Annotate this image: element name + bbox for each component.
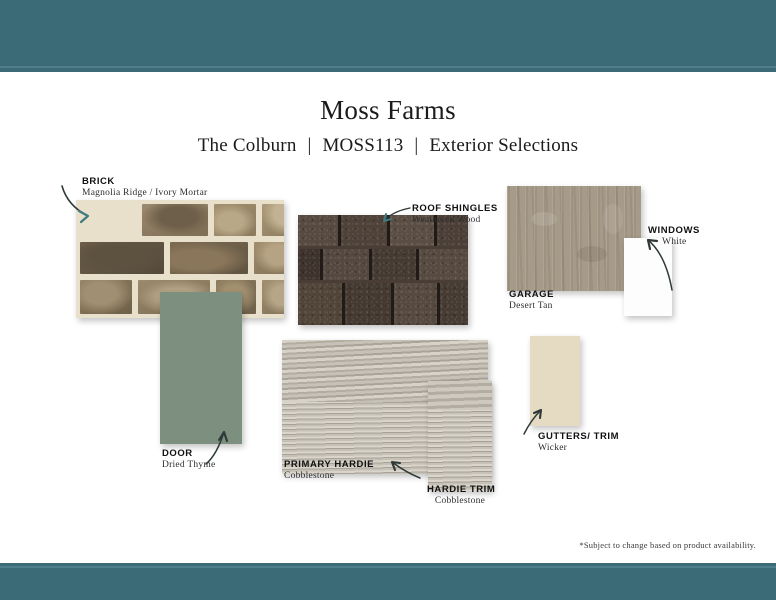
swatch-hardie-trim[interactable] bbox=[428, 381, 492, 491]
label-gutters-trim-value: Wicker bbox=[538, 443, 619, 454]
label-brick-name: BRICK bbox=[82, 176, 207, 187]
subtitle-separator-1: | bbox=[301, 135, 317, 156]
subtitle-plan: The Colburn bbox=[198, 135, 297, 156]
hardie-trim-fine-grain bbox=[428, 410, 492, 491]
exterior-selections-board: Moss Farms The Colburn | MOSS113 | Exter… bbox=[0, 0, 776, 600]
top-banner-rule bbox=[0, 66, 776, 68]
page-title: Moss Farms bbox=[0, 96, 776, 126]
swatch-garage[interactable] bbox=[507, 186, 641, 291]
top-banner bbox=[0, 0, 776, 72]
swatch-roof-shingles[interactable] bbox=[298, 215, 468, 325]
label-primary-hardie: PRIMARY HARDIE Cobblestone bbox=[284, 459, 374, 482]
label-roof-shingles-name: ROOF SHINGLES bbox=[412, 203, 498, 214]
label-door: DOOR Dried Thyme bbox=[162, 448, 216, 471]
label-primary-hardie-name: PRIMARY HARDIE bbox=[284, 459, 374, 470]
bottom-banner-rule bbox=[0, 566, 776, 568]
label-roof-shingles-value: Weathered Wood bbox=[412, 215, 498, 226]
label-hardie-trim-value: Cobblestone bbox=[427, 496, 493, 507]
label-windows-value: White bbox=[662, 237, 700, 248]
swatch-gutters-trim[interactable] bbox=[530, 336, 580, 426]
subtitle-separator-2: | bbox=[408, 135, 424, 156]
label-gutters-trim: GUTTERS/ TRIM Wicker bbox=[538, 431, 619, 454]
title-block: Moss Farms The Colburn | MOSS113 | Exter… bbox=[0, 96, 776, 157]
label-garage-name: GARAGE bbox=[509, 289, 554, 300]
hardie-trim-coarse-grain bbox=[428, 381, 492, 410]
label-brick: BRICK Magnolia Ridge / Ivory Mortar bbox=[82, 176, 207, 199]
label-door-value: Dried Thyme bbox=[162, 460, 216, 471]
label-gutters-trim-name: GUTTERS/ TRIM bbox=[538, 431, 619, 442]
label-windows: WINDOWS White bbox=[648, 225, 700, 248]
garage-woodgrain-texture bbox=[507, 186, 641, 291]
bottom-banner bbox=[0, 563, 776, 600]
label-hardie-trim-name: HARDIE TRIM bbox=[427, 484, 493, 495]
subtitle-code: MOSS113 bbox=[322, 135, 403, 156]
label-door-name: DOOR bbox=[162, 448, 216, 459]
subtitle-section: Exterior Selections bbox=[429, 135, 578, 156]
label-hardie-trim: HARDIE TRIM Cobblestone bbox=[427, 484, 493, 507]
label-primary-hardie-value: Cobblestone bbox=[284, 471, 374, 482]
page-subtitle: The Colburn | MOSS113 | Exterior Selecti… bbox=[0, 135, 776, 157]
label-brick-value: Magnolia Ridge / Ivory Mortar bbox=[82, 188, 207, 199]
label-windows-name: WINDOWS bbox=[648, 225, 700, 236]
label-garage: GARAGE Desert Tan bbox=[509, 289, 554, 312]
label-roof-shingles: ROOF SHINGLES Weathered Wood bbox=[412, 203, 498, 226]
swatch-windows[interactable] bbox=[624, 238, 672, 316]
label-garage-value: Desert Tan bbox=[509, 301, 554, 312]
footnote: *Subject to change based on product avai… bbox=[0, 540, 756, 550]
swatch-door[interactable] bbox=[160, 292, 242, 444]
